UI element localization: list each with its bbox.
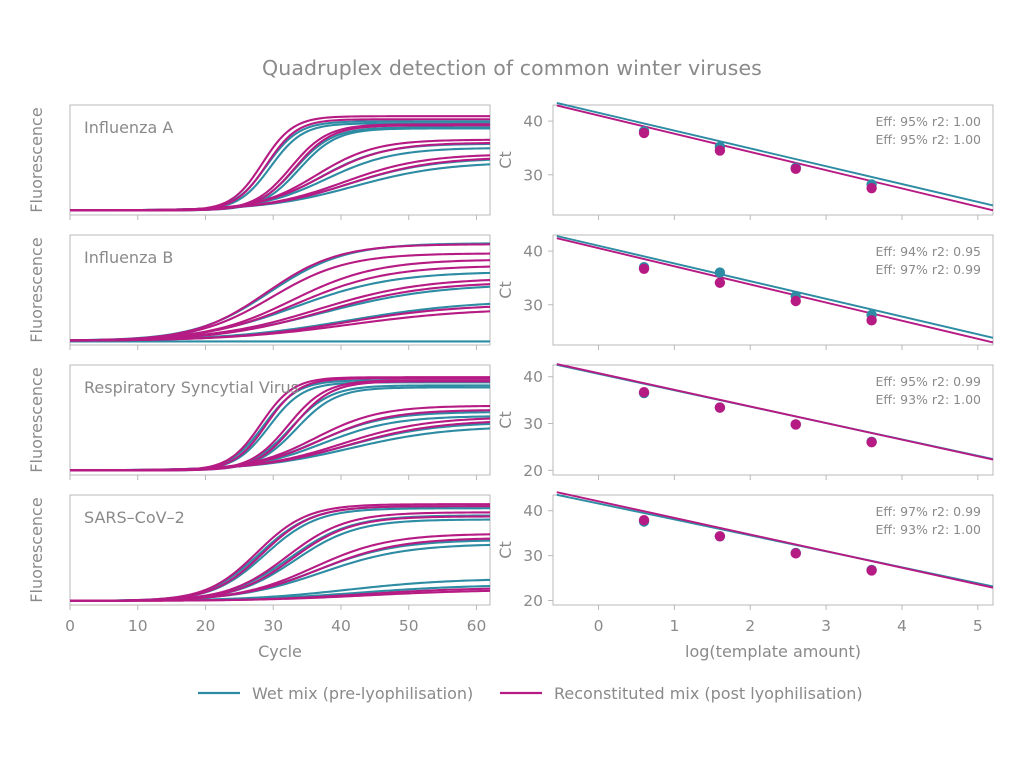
standard-data-point (639, 515, 649, 525)
standard-data-point (791, 548, 801, 558)
standard-ylabel-1: Ct (496, 151, 515, 168)
standard-ytick-label-30: 30 (523, 166, 543, 184)
amplification-xtick-label-60: 60 (467, 617, 487, 635)
amplification-xtick-label-0: 0 (65, 617, 75, 635)
amplification-ylabel-3: Fluorescence (27, 367, 46, 472)
standard-data-point (866, 565, 876, 575)
efficiency-annotation-recon: Eff: 93% r2: 1.00 (875, 522, 981, 537)
figure-svg: FluorescenceInfluenza A3040CtEff: 95% r2… (0, 0, 1024, 769)
standard-ylabel-3: Ct (496, 411, 515, 428)
efficiency-annotation-recon: Eff: 93% r2: 1.00 (875, 392, 981, 407)
standard-data-point (791, 164, 801, 174)
standard-ytick-label-20: 20 (523, 592, 543, 610)
standard-xtick-label-0: 0 (594, 617, 604, 635)
standard-data-point (866, 315, 876, 325)
amplification-xtick-label-40: 40 (331, 617, 351, 635)
standard-data-point (639, 264, 649, 274)
standard-xtick-label-3: 3 (821, 617, 831, 635)
efficiency-annotation-wet: Eff: 95% r2: 1.00 (875, 114, 981, 129)
standard-ytick-label-30: 30 (523, 296, 543, 314)
standard-xtick-label-5: 5 (973, 617, 983, 635)
panel-label-2: Influenza B (84, 248, 173, 267)
amplification-xtick-label-30: 30 (263, 617, 283, 635)
standard-data-point (639, 387, 649, 397)
efficiency-annotation-wet: Eff: 94% r2: 0.95 (875, 244, 981, 259)
efficiency-annotation-recon: Eff: 95% r2: 1.00 (875, 132, 981, 147)
standard-data-point (866, 183, 876, 193)
panel-label-4: SARS–CoV–2 (84, 508, 185, 527)
standard-ytick-label-20: 20 (523, 462, 543, 480)
amplification-xlabel: Cycle (258, 642, 302, 661)
standard-data-point (715, 402, 725, 412)
standard-ylabel-2: Ct (496, 281, 515, 298)
standard-xtick-label-4: 4 (897, 617, 907, 635)
standard-data-point (639, 128, 649, 138)
standard-ytick-label-40: 40 (523, 113, 543, 131)
standard-data-point (715, 531, 725, 541)
standard-ytick-label-40: 40 (523, 243, 543, 261)
standard-data-point (715, 145, 725, 155)
standard-ytick-label-40: 40 (523, 368, 543, 386)
standard-ytick-label-30: 30 (523, 415, 543, 433)
standard-data-point (866, 437, 876, 447)
standard-ylabel-4: Ct (496, 541, 515, 558)
standard-xtick-label-2: 2 (745, 617, 755, 635)
standard-ytick-label-40: 40 (523, 502, 543, 520)
amplification-xtick-label-50: 50 (399, 617, 419, 635)
legend-label-wet: Wet mix (pre-lyophilisation) (252, 684, 473, 703)
standard-ytick-label-30: 30 (523, 547, 543, 565)
standard-xtick-label-1: 1 (669, 617, 679, 635)
amplification-ylabel-1: Fluorescence (27, 107, 46, 212)
efficiency-annotation-wet: Eff: 95% r2: 0.99 (875, 374, 981, 389)
figure-plot-area: FluorescenceInfluenza A3040CtEff: 95% r2… (0, 0, 1024, 769)
amplification-xtick-label-10: 10 (128, 617, 148, 635)
amplification-ylabel-2: Fluorescence (27, 237, 46, 342)
amplification-ylabel-4: Fluorescence (27, 497, 46, 602)
standard-data-point (791, 419, 801, 429)
standard-xlabel: log(template amount) (685, 642, 861, 661)
efficiency-annotation-recon: Eff: 97% r2: 0.99 (875, 262, 981, 277)
panel-label-1: Influenza A (84, 118, 173, 137)
amplification-xtick-label-20: 20 (196, 617, 216, 635)
standard-data-point (715, 267, 725, 277)
standard-data-point (715, 278, 725, 288)
efficiency-annotation-wet: Eff: 97% r2: 0.99 (875, 504, 981, 519)
panel-label-3: Respiratory Syncytial Virus (84, 378, 299, 397)
standard-data-point (791, 296, 801, 306)
legend-label-recon: Reconstituted mix (post lyophilisation) (554, 684, 863, 703)
